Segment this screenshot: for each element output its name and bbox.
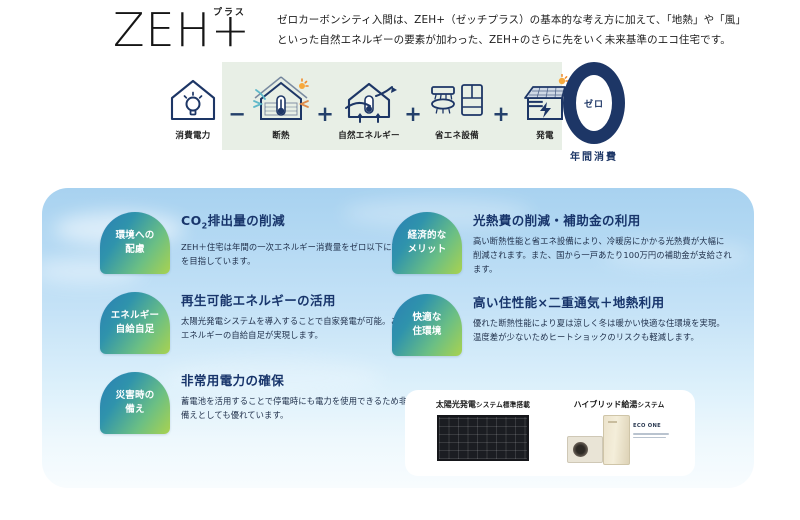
benefit-block-economic: 経済的な メリット 光熱費の削減・補助金の利用 高い断熱性能と省エネ設備により、… xyxy=(392,210,732,276)
benefit-block-comfort: 快適な 住環境 高い住性能×二重通気＋地熱利用 優れた断熱性能により夏は涼しく冬… xyxy=(392,292,732,356)
benefit-desc-comfort: 優れた断熱性能により夏は涼しく冬は暖かい快適な住環境を実現。温度差が少ないためヒ… xyxy=(473,316,732,344)
badge-line-2: メリット xyxy=(408,243,447,257)
badge-line-1: エネルギー xyxy=(111,309,160,323)
lead-line-1: ゼロカーボンシティ入間は、ZEH+（ゼッチプラス）の基本的な考え方に加えて、「地… xyxy=(277,10,777,30)
zeh-plus-infographic: ZEH+ プラス ゼロカーボンシティ入間は、ZEH+（ゼッチプラス）の基本的な考… xyxy=(0,0,800,520)
benefits-column-right: 経済的な メリット 光熱費の削減・補助金の利用 高い断熱性能と省エネ設備により、… xyxy=(392,210,732,372)
equation-item-insulation: 断熱 xyxy=(248,62,314,141)
zeh-plus-logo: ZEH+ プラス xyxy=(113,2,273,58)
aircon-fridge-icon xyxy=(428,74,486,124)
equation-label-insulation: 断熱 xyxy=(272,129,290,141)
eco-one-fineprint xyxy=(633,433,671,438)
product-caption-solar: 太陽光発電システム標準搭載 xyxy=(436,399,530,410)
equation-operator-plus-1: + xyxy=(314,62,336,125)
zero-result: ＝ ゼロ 年間消費 xyxy=(548,62,640,170)
lead-paragraph: ゼロカーボンシティ入間は、ZEH+（ゼッチプラス）の基本的な考え方に加えて、「地… xyxy=(277,10,777,50)
benefit-desc-disaster: 蓄電池を活用することで停電時にも電力を使用できるため非常用の備えとしても優れてい… xyxy=(181,394,440,422)
equation-item-consumption: 消費電力 xyxy=(160,62,226,141)
zero-ruby: ゼロ xyxy=(563,62,625,144)
hybrid-water-heater-photo: ECO ONE xyxy=(567,415,671,463)
equation-label-natural-energy: 自然エネルギー xyxy=(338,129,400,141)
equation-item-natural-energy: 自然エネルギー xyxy=(336,62,402,141)
lead-line-2: といった自然エネルギーの要素が加わった、ZEH+のさらに先をいく未来基準のエコ住… xyxy=(277,30,777,50)
tank-unit xyxy=(603,415,630,465)
logo-ruby-plus: プラス xyxy=(213,5,246,18)
benefit-badge-economic: 経済的な メリット xyxy=(392,212,462,274)
equation-label-energysaving: 省エネ設備 xyxy=(435,129,479,141)
eco-one-callout: ECO ONE xyxy=(633,423,671,440)
equation-label-consumption: 消費電力 xyxy=(175,129,210,141)
product-hybrid-heater: ハイブリッド給湯システム ECO ONE xyxy=(555,399,683,463)
house-natural-energy-icon xyxy=(340,74,398,124)
benefit-block-environment: 環境への 配慮 CO2排出量の削減 ZEH＋住宅は年間の一次エネルギー消費量をゼ… xyxy=(100,210,440,274)
product-caption-heater: ハイブリッド給湯システム xyxy=(574,399,665,410)
product-solar-panel: 太陽光発電システム標準搭載 xyxy=(423,399,543,461)
equation-operator-equals: ＝ xyxy=(526,90,545,117)
equation-operator-plus-2: + xyxy=(402,62,424,125)
benefit-title-comfort: 高い住性能×二重通気＋地熱利用 xyxy=(473,295,732,311)
equation-operator-plus-3: + xyxy=(490,62,512,125)
house-lightbulb-icon xyxy=(164,74,222,124)
badge-line-2: 自給自足 xyxy=(116,323,155,337)
eco-one-brand-label: ECO ONE xyxy=(633,423,671,429)
benefit-badge-environment: 環境への 配慮 xyxy=(100,212,170,274)
badge-line-1: 経済的な xyxy=(408,229,447,243)
product-card: 太陽光発電システム標準搭載 ハイブリッド給湯システム ECO ONE xyxy=(405,390,695,476)
benefit-title-economic: 光熱費の削減・補助金の利用 xyxy=(473,213,732,229)
outdoor-unit xyxy=(567,436,603,463)
solar-panel-photo xyxy=(437,415,529,461)
benefit-desc-economic: 高い断熱性能と省エネ設備により、冷暖房にかかる光熱費が大幅に削減されます。また、… xyxy=(473,234,732,276)
header: ZEH+ プラス ゼロカーボンシティ入間は、ZEH+（ゼッチプラス）の基本的な考… xyxy=(0,0,800,62)
benefit-title-disaster: 非常用電力の確保 xyxy=(181,373,440,389)
badge-line-2: 住環境 xyxy=(412,325,441,339)
benefit-block-disaster: 災害時の 備え 非常用電力の確保 蓄電池を活用することで停電時にも電力を使用でき… xyxy=(100,370,440,434)
badge-line-2: 備え xyxy=(125,403,144,417)
zero-caption: 年間消費 xyxy=(570,148,618,163)
badge-line-2: 配慮 xyxy=(125,243,144,257)
zero-digit: ゼロ xyxy=(563,62,625,144)
benefit-badge-self-sufficiency: エネルギー 自給自足 xyxy=(100,292,170,354)
badge-line-1: 災害時の xyxy=(116,389,155,403)
equation-item-energysaving: 省エネ設備 xyxy=(424,62,490,141)
benefit-block-self-sufficiency: エネルギー 自給自足 再生可能エネルギーの活用 太陽光発電システムを導入すること… xyxy=(100,290,440,354)
house-insulation-thermometer-icon xyxy=(252,74,310,124)
benefit-badge-comfort: 快適な 住環境 xyxy=(392,294,462,356)
equation-operator-minus: − xyxy=(226,62,248,125)
badge-line-1: 環境への xyxy=(116,229,155,243)
benefits-panel: 環境への 配慮 CO2排出量の削減 ZEH＋住宅は年間の一次エネルギー消費量をゼ… xyxy=(42,188,754,488)
benefit-badge-disaster: 災害時の 備え xyxy=(100,372,170,434)
badge-line-1: 快適な xyxy=(412,311,441,325)
benefits-column-left: 環境への 配慮 CO2排出量の削減 ZEH＋住宅は年間の一次エネルギー消費量をゼ… xyxy=(100,210,440,450)
